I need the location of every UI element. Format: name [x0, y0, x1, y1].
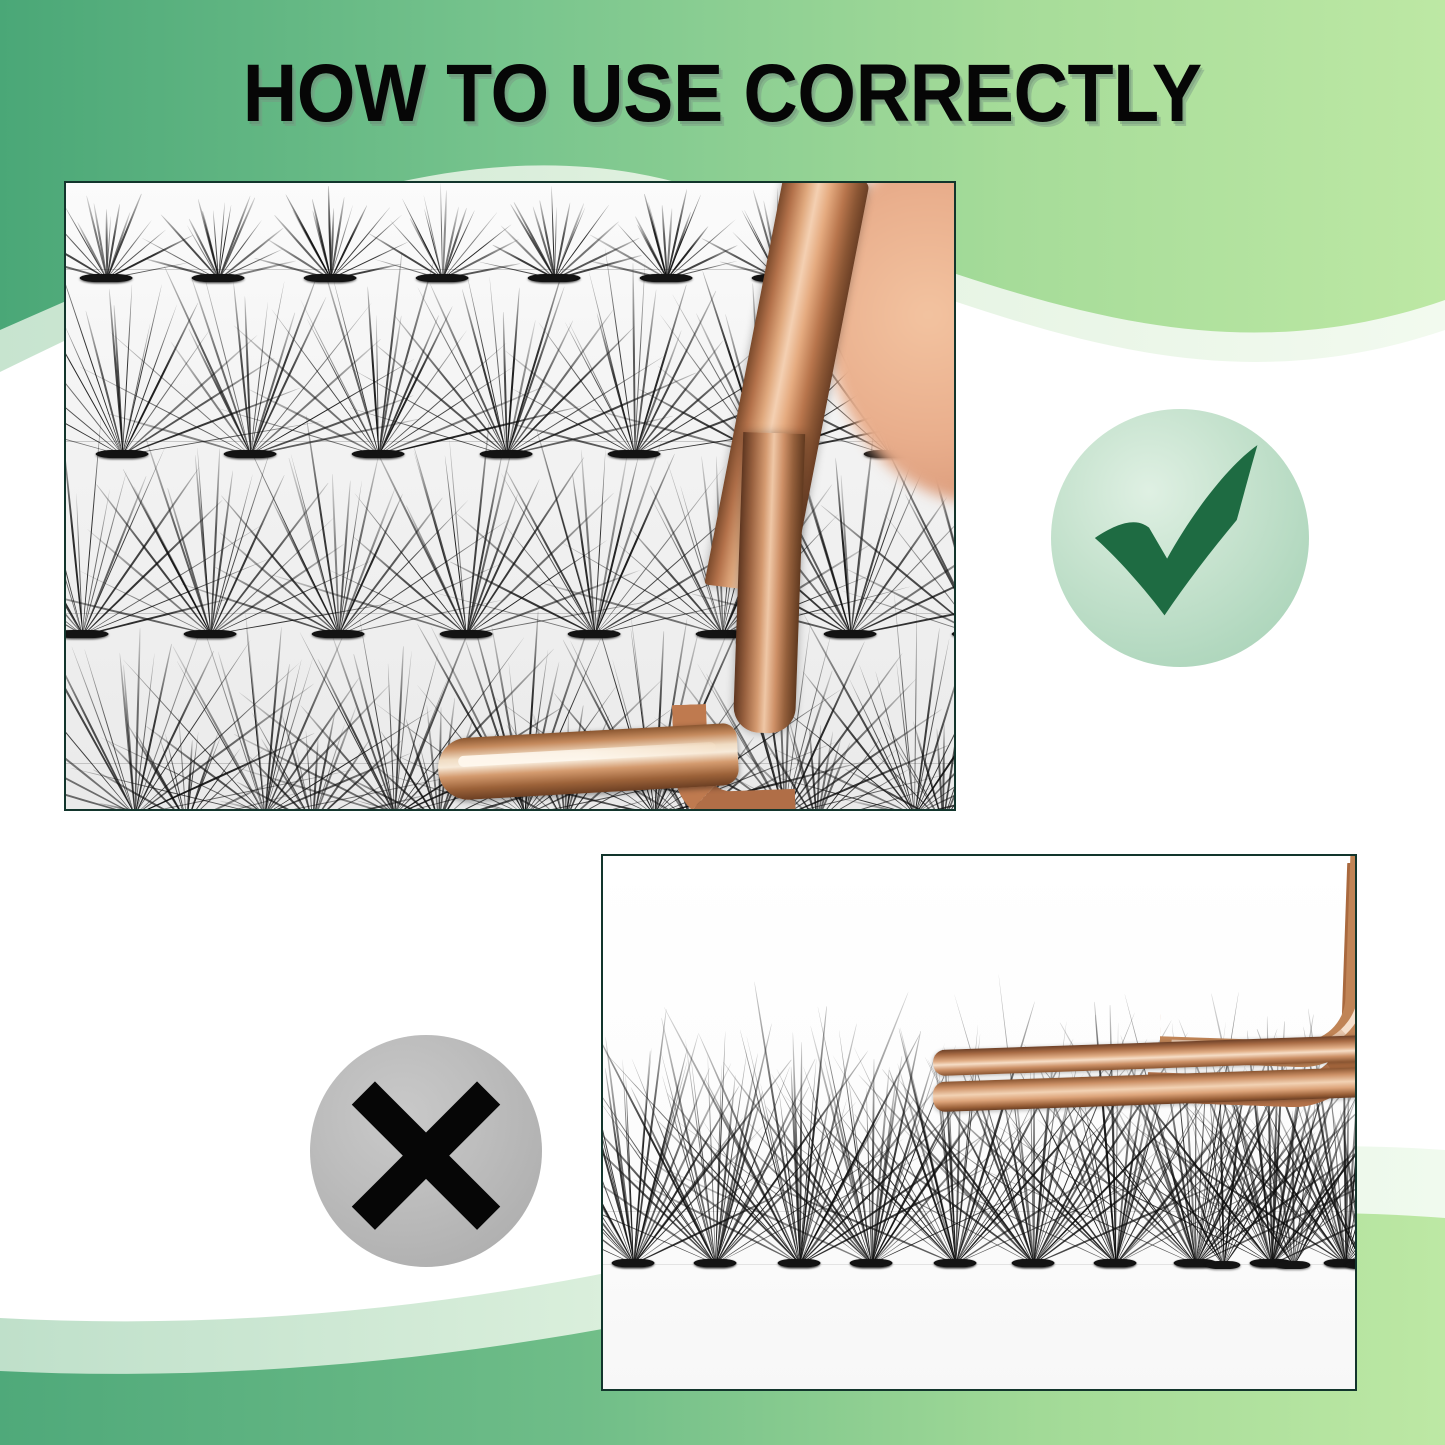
lash-cluster-band [696, 1259, 735, 1267]
lash-cluster-band [1275, 1261, 1310, 1269]
lash-cluster-band [852, 1259, 891, 1267]
lash-cluster [269, 713, 355, 809]
lash-fiber [1291, 1111, 1294, 1266]
tweezer-shaft-lower [733, 432, 805, 734]
lash-fiber [840, 476, 852, 635]
lash-fiber [580, 450, 596, 635]
lash-cluster-band [1205, 1261, 1240, 1269]
lash-fiber [816, 725, 821, 809]
lash-fiber [554, 203, 585, 280]
lash-cluster [764, 1026, 834, 1264]
lash-fiber [76, 493, 83, 635]
lash-fiber [186, 740, 193, 809]
check-icon [1051, 409, 1309, 667]
lash-cluster-band [780, 1259, 819, 1267]
infographic-canvas: HOW TO USE CORRECTLY [0, 0, 1445, 1445]
lash-fiber [165, 734, 188, 809]
lash-fiber [197, 448, 211, 636]
lash-cluster [143, 713, 229, 809]
lash-fiber [942, 723, 945, 809]
lash-cluster-band [936, 1259, 975, 1267]
incorrect-usage-photo [601, 854, 1357, 1391]
correct-photo-inner [66, 183, 954, 809]
lash-cluster-band [614, 1259, 653, 1267]
lash-fiber [1219, 1080, 1226, 1266]
lash-cluster [899, 713, 954, 809]
lash-cluster [1191, 1086, 1255, 1266]
incorrect-photo-inner [603, 856, 1355, 1389]
lash-cluster-band [1096, 1259, 1135, 1267]
incorrect-cross-badge: Incorrect [310, 1035, 542, 1267]
lash-fiber [312, 739, 319, 809]
tweezer-bend-highlight [1171, 856, 1355, 1053]
correct-check-badge: Correct [1051, 409, 1309, 667]
lash-fiber [554, 207, 557, 279]
lash-cluster [1331, 1086, 1355, 1266]
lash-cluster-band [1014, 1259, 1053, 1267]
lash-fiber [419, 743, 439, 809]
cross-icon [310, 1035, 542, 1267]
correct-usage-photo [64, 181, 956, 811]
